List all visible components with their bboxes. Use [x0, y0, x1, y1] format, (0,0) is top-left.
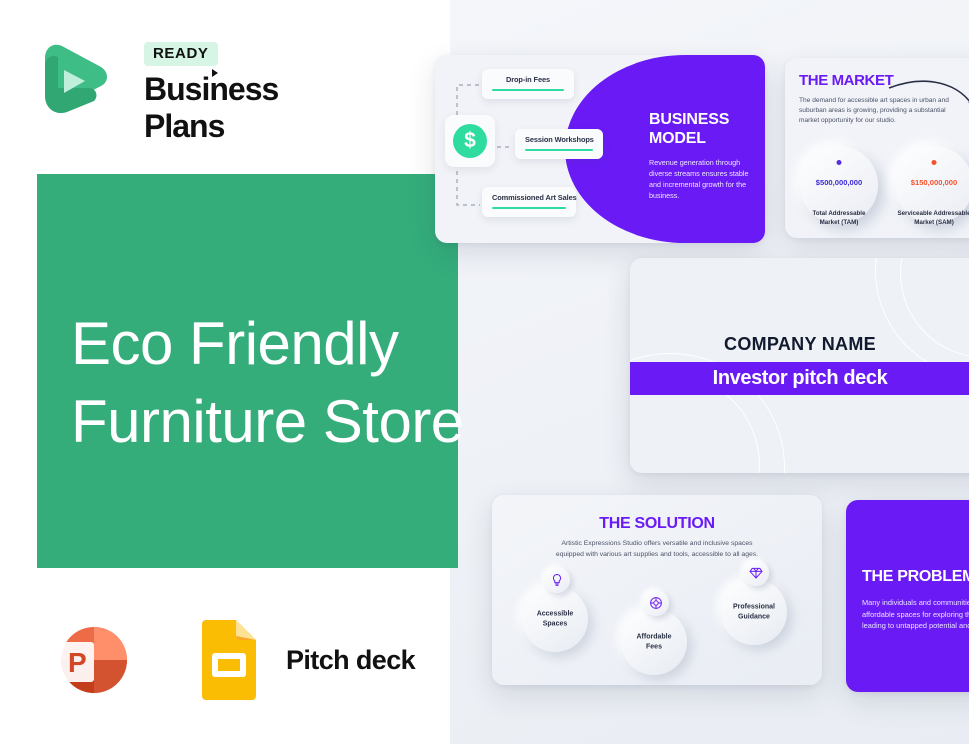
solution-body: Artistic Expressions Studio offers versa… — [547, 539, 767, 560]
dollar-icon: $ — [453, 124, 487, 158]
company-name-band: Investor pitch deck — [630, 362, 969, 395]
business-model-body: Revenue generation through diverse strea… — [649, 157, 757, 201]
poster-root: Eco Friendly Furniture Store READY Busin… — [0, 0, 969, 744]
business-model-item: Drop-in Fees — [482, 69, 574, 99]
market-body: The demand for accessible art spaces in … — [799, 96, 959, 126]
market-metric-dot — [837, 160, 842, 165]
slide-business-model[interactable]: BUSINESS MODEL Revenue generation throug… — [435, 55, 765, 243]
solution-node-label: Affordable Fees — [621, 633, 687, 652]
slide-problem[interactable]: THE PROBLEM Many individuals and communi… — [846, 500, 969, 692]
business-model-item-label: Commissioned Art Sales — [492, 193, 566, 202]
format-row: P Pitch deck — [48, 618, 415, 702]
business-model-item-bar — [492, 207, 566, 209]
brand-text: READY Business Plans — [144, 42, 278, 145]
decor-ring — [875, 258, 969, 378]
revenue-source-card: $ — [445, 115, 495, 167]
business-model-item-label: Session Workshops — [525, 135, 593, 144]
format-label: Pitch deck — [286, 645, 415, 676]
solution-title: THE SOLUTION — [492, 515, 822, 533]
market-metric-value: $150,000,000 — [895, 178, 969, 187]
business-model-item: Commissioned Art Sales — [482, 187, 576, 217]
slide-solution[interactable]: THE SOLUTION Artistic Expressions Studio… — [492, 495, 822, 685]
market-metric-dot — [932, 160, 937, 165]
page-title: Eco Friendly Furniture Store — [71, 305, 541, 461]
business-model-item-label: Drop-in Fees — [492, 75, 564, 84]
solution-node-label: Accessible Spaces — [522, 610, 588, 629]
powerpoint-icon: P — [48, 618, 132, 702]
brand-name: Business Plans — [144, 71, 278, 145]
problem-title: THE PROBLEM — [862, 568, 969, 586]
market-title: THE MARKET — [799, 72, 893, 89]
donut-icon — [643, 590, 669, 616]
business-model-title: BUSINESS MODEL — [649, 110, 754, 148]
business-model-item: Session Workshops — [515, 129, 603, 159]
brand-name-text: Business Plans — [144, 71, 278, 144]
play-triangle-logo-icon — [37, 36, 109, 114]
company-name-subtitle: Investor pitch deck — [630, 362, 969, 395]
market-metric-caption: Total Addressable Market (TAM) — [796, 210, 882, 227]
market-metric-caption: Serviceable Addressable Market (SAM) — [891, 210, 969, 227]
slide-market[interactable]: THE MARKET The demand for accessible art… — [785, 58, 969, 238]
powerpoint-letter: P — [68, 647, 87, 678]
company-name-heading: COMPANY NAME — [630, 334, 969, 355]
diamond-icon — [743, 560, 769, 586]
ready-badge: READY — [144, 42, 218, 66]
brand-play-icon — [212, 69, 218, 77]
google-slides-icon — [198, 620, 260, 700]
business-model-item-bar — [492, 89, 564, 91]
solution-node: Affordable Fees — [621, 609, 687, 675]
slide-company-name[interactable]: COMPANY NAME Investor pitch deck — [630, 258, 969, 473]
problem-body: Many individuals and communities lack ac… — [862, 597, 969, 632]
business-model-item-bar — [525, 149, 593, 151]
solution-node-label: Professional Guidance — [721, 603, 787, 622]
solution-node: Accessible Spaces — [522, 586, 588, 652]
solution-node: Professional Guidance — [721, 579, 787, 645]
lightbulb-icon — [544, 567, 570, 593]
market-metric-value: $500,000,000 — [800, 178, 878, 187]
